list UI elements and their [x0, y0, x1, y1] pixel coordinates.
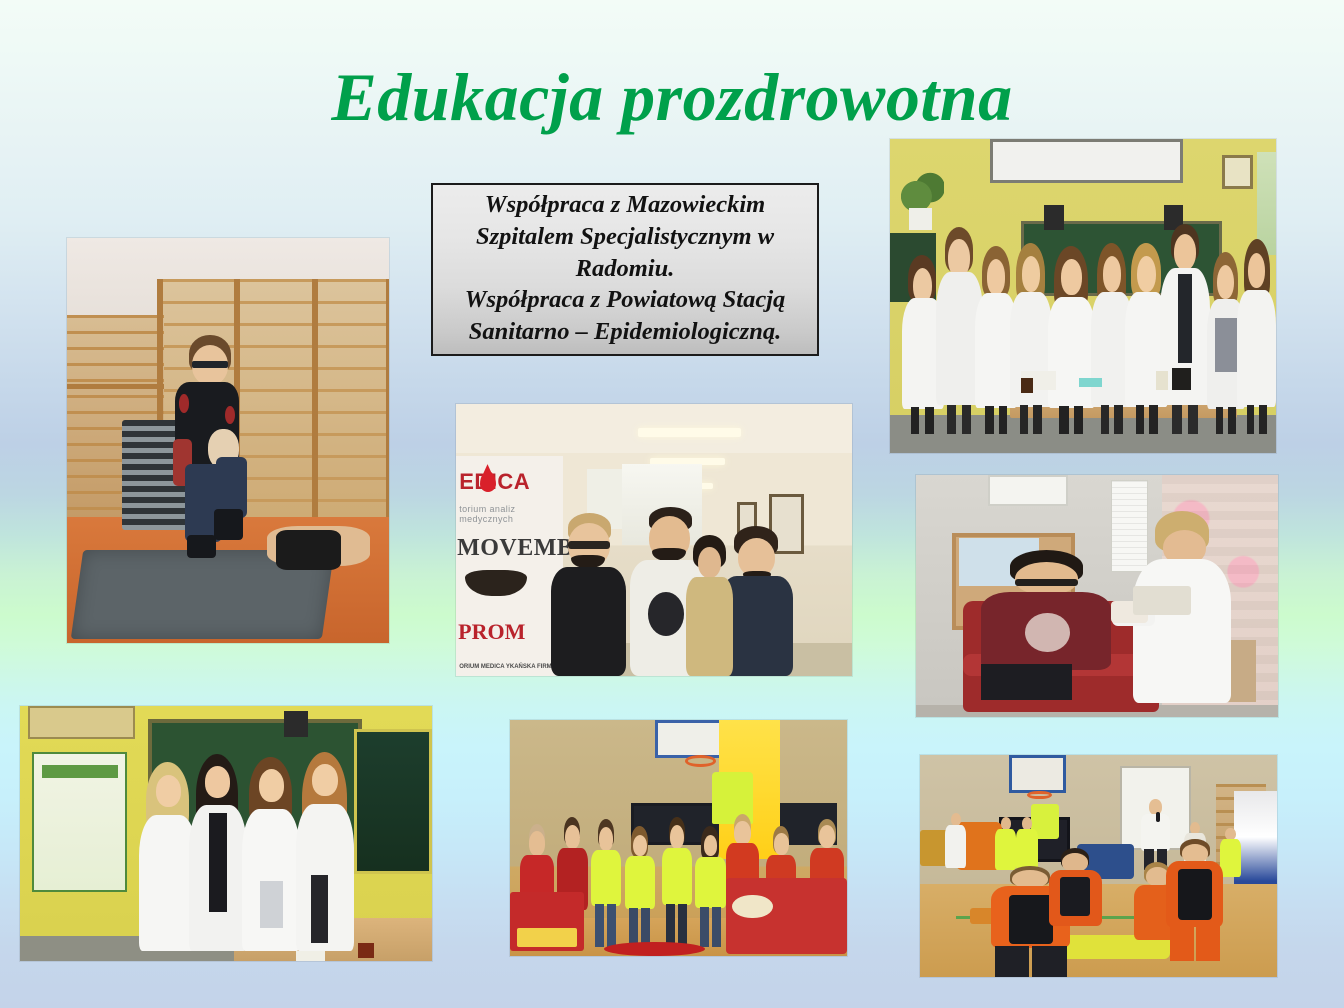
- movember-banner: EDICA torium analiz medycznych MOVEMBER …: [456, 456, 563, 676]
- mustache-icon: [465, 570, 527, 596]
- photo-cpr-training: [67, 238, 389, 643]
- caption-line: Szpitalem Specjalistycznym w: [476, 221, 774, 253]
- caption-line: Radomiu.: [576, 253, 675, 285]
- banner-promo: PROM: [458, 619, 525, 645]
- page-title: Edukacja prozdrowotna: [0, 62, 1344, 133]
- banner-subtitle: torium analiz medycznych: [459, 504, 563, 524]
- photo-rescue-equipment-gym: [510, 720, 847, 956]
- photo-scene: [916, 475, 1278, 717]
- caption-text-box: Współpraca z Mazowieckim Szpitalem Specj…: [431, 183, 819, 356]
- photo-lab-coat-class-group: [890, 139, 1276, 453]
- photo-scene: [67, 238, 389, 643]
- photo-rescue-simulation: [920, 755, 1277, 977]
- caption-line: Współpraca z Mazowieckim: [485, 189, 765, 221]
- photo-movember-corridor: EDICA torium analiz medycznych MOVEMBER …: [456, 404, 852, 676]
- blood-drop-icon: [480, 471, 496, 492]
- caption-line: Współpraca z Powiatową Stacją: [465, 284, 786, 316]
- photo-scene: [920, 755, 1277, 977]
- photo-scene: EDICA torium analiz medycznych MOVEMBER …: [456, 404, 852, 676]
- photo-scene: [510, 720, 847, 956]
- photo-blood-draw: [916, 475, 1278, 717]
- banner-footer: ORIUM MEDICA YKAŃSKA FIRMA: [459, 663, 556, 671]
- photo-four-students-lab-coats: [20, 706, 432, 961]
- photo-scene: [890, 139, 1276, 453]
- slide-canvas: Edukacja prozdrowotna Współpraca z Mazow…: [0, 0, 1344, 1008]
- caption-line: Sanitarno – Epidemiologiczną.: [469, 316, 781, 348]
- photo-scene: [20, 706, 432, 961]
